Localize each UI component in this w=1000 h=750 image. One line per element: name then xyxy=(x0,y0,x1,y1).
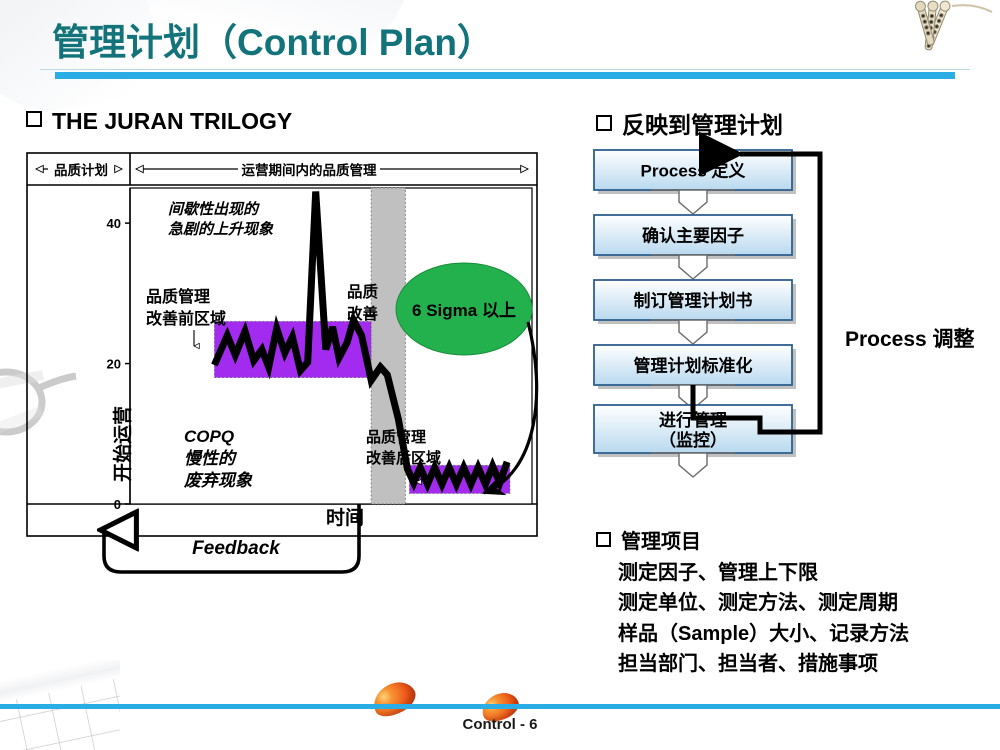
svg-text:开始运营: 开始运营 xyxy=(111,406,134,482)
process-adjust-label: Process 调整 xyxy=(845,323,975,353)
juran-section-heading-label: THE JURAN TRILOGY xyxy=(52,108,292,134)
svg-text:间歇性出现的: 间歇性出现的 xyxy=(168,201,260,218)
flow-step[interactable]: 制订管理计划书 xyxy=(594,280,796,324)
flow-step-label: Process 定义 xyxy=(641,161,746,181)
flow-step-label: 制订管理计划书 xyxy=(634,291,753,311)
management-item-row: 测定单位、测定方法、测定周期 xyxy=(596,588,996,619)
reflect-section-heading: 反映到管理计划 xyxy=(596,106,783,140)
management-item-row: 样品（Sample）大小、记录方法 xyxy=(596,619,996,650)
svg-text:废弃现象: 废弃现象 xyxy=(183,471,253,490)
reflect-section-heading-label: 反映到管理计划 xyxy=(622,112,783,138)
square-bullet-icon xyxy=(596,532,611,547)
juran-section-heading: THE JURAN TRILOGY xyxy=(26,108,292,135)
y-tick-label: 20 xyxy=(107,357,121,372)
svg-text:急剧的上升现象: 急剧的上升现象 xyxy=(168,221,274,238)
management-item-row: 测定因子、管理上下限 xyxy=(596,558,996,589)
svg-text:改善前区域: 改善前区域 xyxy=(146,309,226,328)
page-title: 管理计划（Control Plan） xyxy=(52,12,494,66)
svg-text:COPQ: COPQ xyxy=(184,427,234,446)
keys-decoration-image xyxy=(874,0,994,62)
flow-step[interactable]: 确认主要因子 xyxy=(594,215,796,259)
svg-text:运营期间内的品质管理: 运营期间内的品质管理 xyxy=(242,162,377,178)
square-bullet-icon xyxy=(596,115,612,131)
management-items-heading: 管理项目 xyxy=(596,527,996,558)
svg-text:品质: 品质 xyxy=(347,282,379,301)
management-items-heading-label: 管理项目 xyxy=(621,531,701,553)
svg-text:6 Sigma 以上: 6 Sigma 以上 xyxy=(412,301,516,320)
svg-text:Feedback: Feedback xyxy=(192,538,281,559)
footer-page-label: Control - 6 xyxy=(0,716,1000,733)
management-items-block: 管理项目 测定因子、管理上下限 测定单位、测定方法、测定周期 样品（Sample… xyxy=(596,527,996,680)
title-accent-bar xyxy=(55,72,955,79)
flow-step-label: （监控） xyxy=(659,430,727,450)
svg-text:品质管理: 品质管理 xyxy=(146,287,210,306)
flow-step[interactable]: Process 定义 xyxy=(594,150,796,194)
svg-text:品质计划: 品质计划 xyxy=(54,162,108,178)
flow-step[interactable]: 管理计划标准化 xyxy=(594,345,796,389)
flow-step-label: 管理计划标准化 xyxy=(634,356,753,376)
svg-text:慢性的: 慢性的 xyxy=(184,449,238,468)
footer-accent-bar xyxy=(0,704,1000,709)
flow-step-label: 确认主要因子 xyxy=(642,226,744,246)
juran-trilogy-chart: 品质计划 运营期间内的品质管理 02040 间歇性出现的 急剧的上升现象 品质管… xyxy=(26,152,538,537)
svg-text:改善后区域: 改善后区域 xyxy=(366,449,441,467)
title-hairline-divider xyxy=(40,69,970,70)
management-item-row: 担当部门、担当者、措施事项 xyxy=(596,649,996,680)
slide-canvas: 管理计划（Control Plan） THE JURAN TRILOGY 反映到… xyxy=(0,0,1000,750)
feedback-loop-arrow: Feedback xyxy=(66,504,406,584)
square-bullet-icon xyxy=(26,111,42,127)
y-tick-label: 40 xyxy=(107,216,121,231)
svg-text:改善: 改善 xyxy=(347,304,379,323)
svg-text:品质管理: 品质管理 xyxy=(366,428,426,446)
